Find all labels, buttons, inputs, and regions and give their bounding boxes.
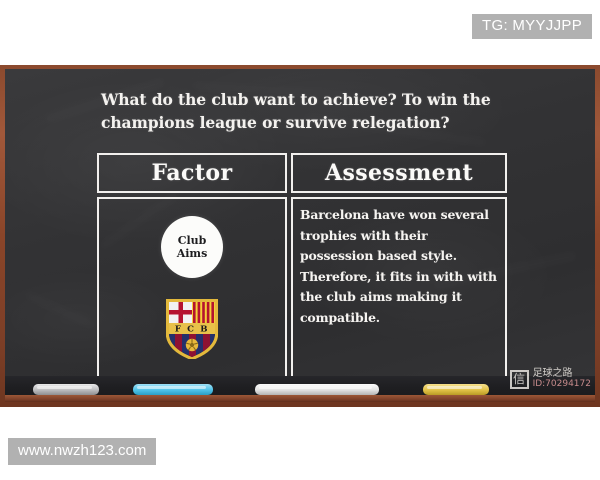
table-header-cell-assessment: Assessment bbox=[291, 153, 507, 193]
chalk-stick-white bbox=[33, 384, 99, 395]
chalk-tray bbox=[5, 376, 595, 402]
chalkboard-surface: What do the club want to achieve? To win… bbox=[5, 69, 595, 402]
chalkboard-wooden-frame: What do the club want to achieve? To win… bbox=[0, 65, 600, 407]
top-white-band: TG: MYYJJPP bbox=[0, 0, 600, 65]
chalk-tray-wood-lip bbox=[5, 395, 595, 402]
question-heading: What do the club want to achieve? To win… bbox=[101, 88, 521, 134]
factor-cell-content: Club Aims bbox=[99, 199, 285, 376]
telegram-tag-watermark: TG: MYYJJPP bbox=[472, 14, 592, 39]
club-aims-bubble: Club Aims bbox=[161, 216, 223, 278]
column-header-factor-label: Factor bbox=[152, 161, 233, 185]
site-name-label: 足球之路 bbox=[533, 368, 591, 379]
club-aims-line-1: Club bbox=[178, 234, 207, 248]
chalkboard-eraser bbox=[255, 384, 379, 395]
table-row: Club Aims bbox=[97, 197, 507, 378]
svg-text:F C B: F C B bbox=[175, 325, 209, 335]
chalk-stick-blue bbox=[133, 384, 213, 395]
bottom-white-band: www.nwzh123.com bbox=[0, 407, 600, 480]
site-logo-icon: 信 bbox=[510, 370, 529, 389]
table-header-row: Factor Assessment bbox=[97, 153, 507, 193]
site-id-label: ID:70294172 bbox=[533, 379, 591, 390]
chalk-stick-yellow bbox=[423, 384, 489, 395]
fc-barcelona-crest-icon: F C B bbox=[166, 299, 218, 359]
table-cell-factor: Club Aims bbox=[97, 197, 287, 378]
site-watermark-texts: 足球之路 ID:70294172 bbox=[533, 368, 591, 390]
assessment-text: Barcelona have won several trophies with… bbox=[293, 199, 505, 328]
factor-assessment-table: Factor Assessment Club Aims bbox=[97, 153, 507, 378]
url-watermark: www.nwzh123.com bbox=[8, 438, 156, 465]
club-aims-line-2: Aims bbox=[177, 247, 208, 261]
column-header-assessment-label: Assessment bbox=[325, 161, 473, 185]
chalk-smudge-icon bbox=[28, 294, 92, 325]
site-watermark: 信 足球之路 ID:70294172 bbox=[510, 368, 591, 390]
table-cell-assessment: Barcelona have won several trophies with… bbox=[291, 197, 507, 378]
table-header-cell-factor: Factor bbox=[97, 153, 287, 193]
